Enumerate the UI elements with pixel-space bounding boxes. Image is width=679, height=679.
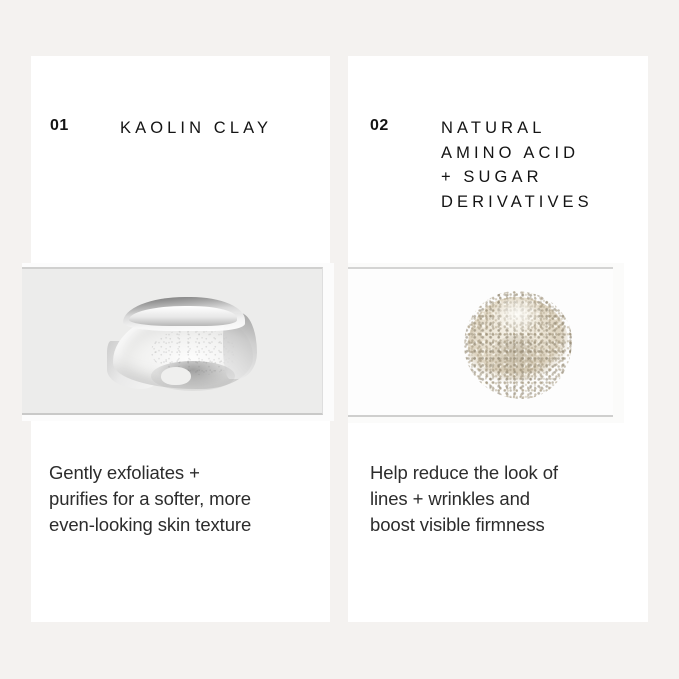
clay-ridge-highlight	[129, 306, 237, 326]
ingredient-card-01: 01 KAOLIN CLAY Gently exfoliates + purif…	[31, 56, 330, 622]
card-header: 02 NATURAL AMINO ACID + SUGAR DERIVATIVE…	[348, 56, 648, 206]
clay-smear-icon	[107, 295, 259, 393]
ingredient-title: NATURAL AMINO ACID + SUGAR DERIVATIVES	[441, 116, 593, 214]
ingredient-description: Help reduce the look of lines + wrinkles…	[370, 460, 634, 538]
ingredient-title: KAOLIN CLAY	[120, 116, 272, 141]
ingredient-description: Gently exfoliates + purifies for a softe…	[49, 460, 313, 538]
ingredient-number: 02	[370, 118, 389, 134]
ingredient-benefits-panel: 01 KAOLIN CLAY Gently exfoliates + purif…	[0, 0, 679, 679]
ingredient-card-02: 02 NATURAL AMINO ACID + SUGAR DERIVATIVE…	[348, 56, 648, 622]
card-header: 01 KAOLIN CLAY	[31, 56, 330, 206]
powder-highlight	[494, 297, 540, 331]
ingredient-number: 01	[50, 118, 69, 134]
powder-pile-icon	[464, 291, 572, 399]
clay-smear-swatch	[22, 267, 323, 415]
clay-notch	[161, 367, 191, 385]
powder-pile-swatch	[348, 267, 613, 417]
